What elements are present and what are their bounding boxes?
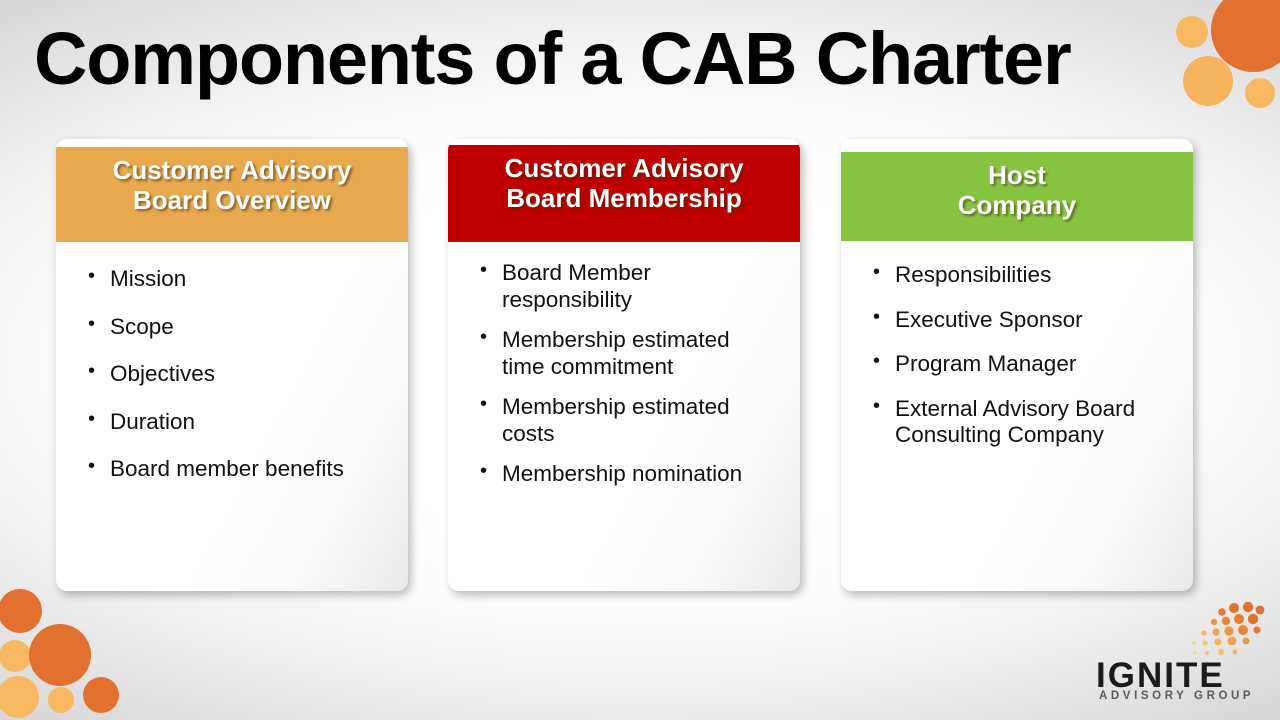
card-customer-advisory-board-membership: Customer Advisory Board Membership Board… bbox=[448, 139, 800, 591]
circle-bottom-left-e bbox=[48, 687, 74, 713]
circle-bottom-left-d bbox=[0, 676, 39, 718]
card-customer-advisory-board-overview: Customer Advisory Board Overview Mission… bbox=[56, 139, 408, 591]
bullet-list-membership: Board Member responsibility Membership e… bbox=[448, 260, 800, 502]
circle-top-right-small bbox=[1176, 16, 1208, 48]
list-item: Board Member responsibility bbox=[480, 260, 778, 313]
list-item: Membership estimated time commitment bbox=[480, 327, 778, 380]
bullet-list-overview: Mission Scope Objectives Duration Board … bbox=[56, 266, 408, 504]
list-item: Duration bbox=[88, 409, 386, 436]
card-header-line-1: Host bbox=[847, 161, 1187, 191]
card-header-host-company: Host Company bbox=[841, 152, 1193, 241]
card-header-line-1: Customer Advisory bbox=[454, 154, 794, 184]
list-item: Scope bbox=[88, 314, 386, 341]
circle-top-right-tiny bbox=[1245, 78, 1275, 108]
list-item: Membership nomination bbox=[480, 461, 778, 488]
circle-bottom-left-b bbox=[0, 640, 31, 672]
card-header-line-1: Customer Advisory bbox=[62, 156, 402, 186]
list-item: Mission bbox=[88, 266, 386, 293]
bullet-list-host-company: Responsibilities Executive Sponsor Progr… bbox=[841, 262, 1193, 467]
card-header-line-2: Board Membership bbox=[454, 184, 794, 214]
dot-spray-icon bbox=[1174, 600, 1266, 662]
logo-tagline: ADVISORY GROUP bbox=[1099, 690, 1254, 702]
list-item: External Advisory Board Consulting Compa… bbox=[873, 396, 1171, 449]
slide-canvas: Components of a CAB Charter Customer Adv… bbox=[0, 0, 1280, 720]
card-header-line-2: Company bbox=[847, 191, 1187, 221]
card-header-line-2: Board Overview bbox=[62, 186, 402, 216]
ignite-advisory-group-logo: IGNITE ADVISORY GROUP bbox=[1096, 600, 1268, 700]
circle-bottom-left-f bbox=[83, 677, 119, 713]
list-item: Objectives bbox=[88, 361, 386, 388]
page-title: Components of a CAB Charter bbox=[34, 22, 1071, 96]
list-item: Membership estimated costs bbox=[480, 394, 778, 447]
list-item: Board member benefits bbox=[88, 456, 386, 483]
circle-top-right-medium bbox=[1183, 56, 1233, 106]
card-header-overview: Customer Advisory Board Overview bbox=[56, 147, 408, 242]
list-item: Responsibilities bbox=[873, 262, 1171, 289]
list-item: Executive Sponsor bbox=[873, 307, 1171, 334]
card-host-company: Host Company Responsibilities Executive … bbox=[841, 139, 1193, 591]
circle-bottom-left-c bbox=[29, 624, 91, 686]
circle-bottom-left-a bbox=[0, 589, 42, 633]
list-item: Program Manager bbox=[873, 351, 1171, 378]
card-header-membership: Customer Advisory Board Membership bbox=[448, 145, 800, 242]
